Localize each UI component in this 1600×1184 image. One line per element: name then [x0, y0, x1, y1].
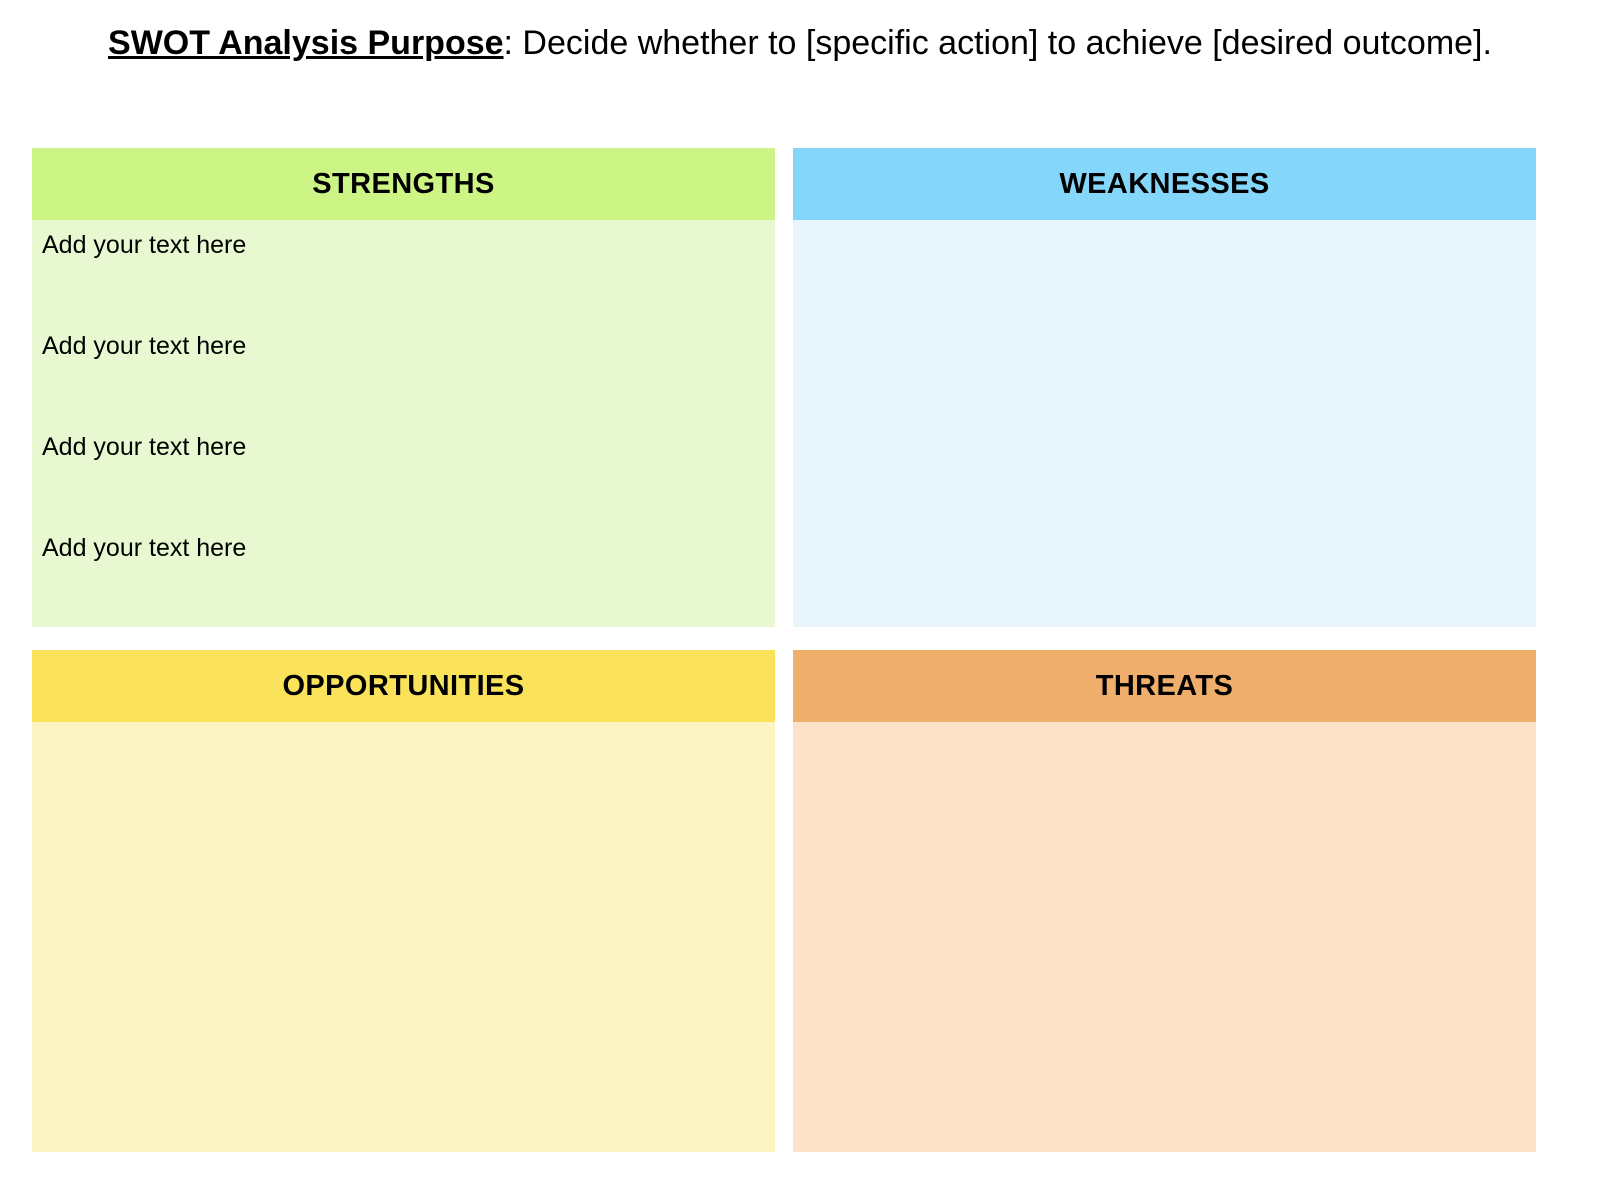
- swot-grid: STRENGTHS Add your text here Add your te…: [32, 148, 1536, 1152]
- quadrant-weaknesses[interactable]: WEAKNESSES: [793, 148, 1536, 627]
- quadrant-strengths-body[interactable]: Add your text here Add your text here Ad…: [32, 220, 775, 627]
- page-title-emphasis: SWOT Analysis Purpose: [108, 24, 504, 62]
- quadrant-strengths-header: STRENGTHS: [32, 148, 775, 220]
- quadrant-strengths-heading-label: STRENGTHS: [312, 168, 494, 201]
- quadrant-opportunities-body[interactable]: [32, 722, 775, 1152]
- quadrant-opportunities[interactable]: OPPORTUNITIES: [32, 650, 775, 1152]
- quadrant-weaknesses-heading-label: WEAKNESSES: [1059, 168, 1269, 201]
- strengths-placeholder-list: Add your text here Add your text here Ad…: [32, 220, 775, 624]
- quadrant-threats[interactable]: THREATS: [793, 650, 1536, 1152]
- page-title-rest: : Decide whether to [specific action] to…: [504, 24, 1492, 62]
- quadrant-weaknesses-header: WEAKNESSES: [793, 148, 1536, 220]
- page-title: SWOT Analysis Purpose: Decide whether to…: [108, 20, 1492, 66]
- quadrant-opportunities-header: OPPORTUNITIES: [32, 650, 775, 722]
- quadrant-opportunities-heading-label: OPPORTUNITIES: [282, 670, 524, 703]
- list-item[interactable]: Add your text here: [32, 321, 775, 422]
- quadrant-threats-body[interactable]: [793, 722, 1536, 1152]
- quadrant-threats-heading-label: THREATS: [1096, 670, 1234, 703]
- title-area: SWOT Analysis Purpose: Decide whether to…: [0, 0, 1600, 66]
- quadrant-weaknesses-body[interactable]: [793, 220, 1536, 627]
- list-item[interactable]: Add your text here: [32, 422, 775, 523]
- list-item[interactable]: Add your text here: [32, 220, 775, 321]
- list-item[interactable]: Add your text here: [32, 523, 775, 624]
- quadrant-threats-header: THREATS: [793, 650, 1536, 722]
- quadrant-strengths[interactable]: STRENGTHS Add your text here Add your te…: [32, 148, 775, 627]
